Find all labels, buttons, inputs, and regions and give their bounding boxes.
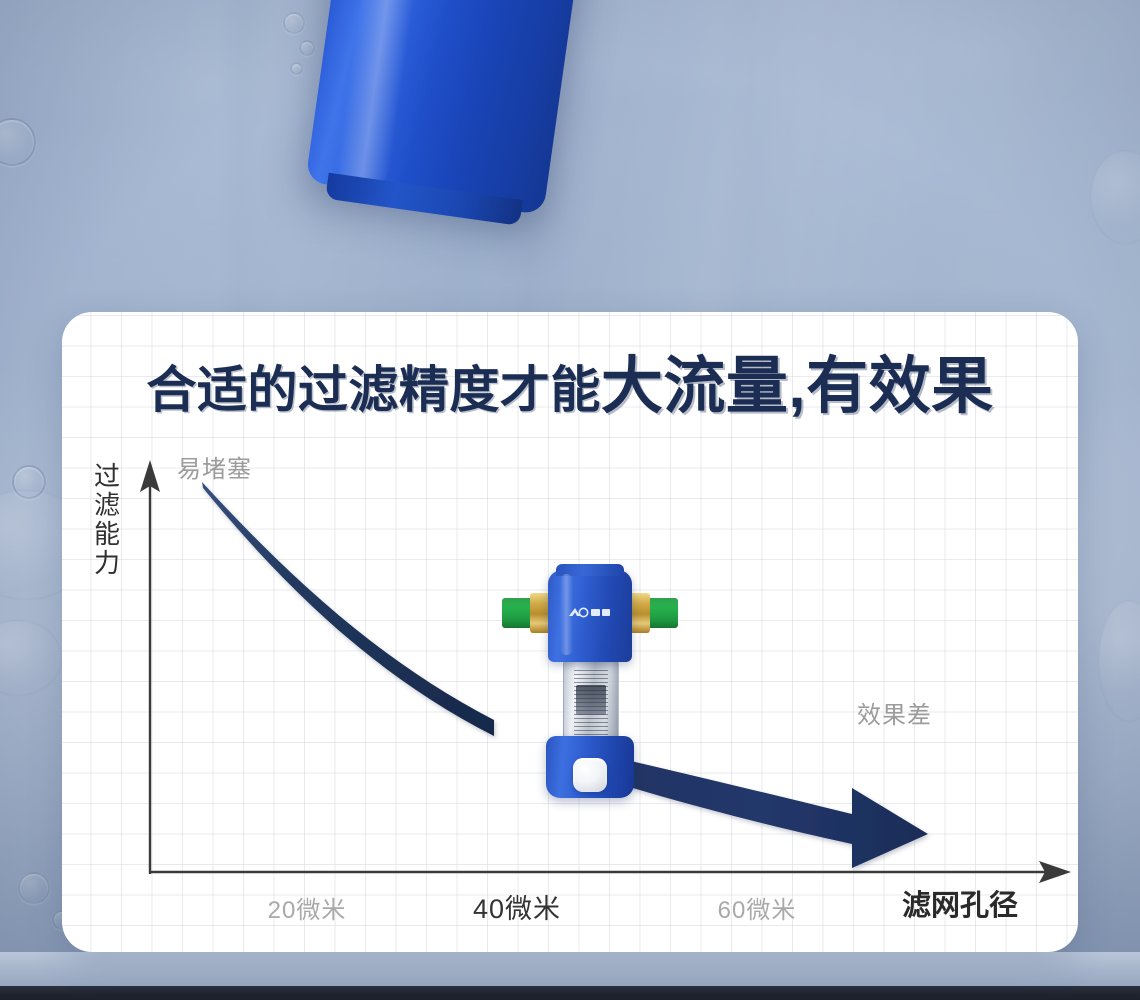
product-outlet-port <box>646 598 678 628</box>
product-prefilter-image: pre-filter-water-purifier <box>502 560 678 800</box>
annotation-easy-clog: 易堵塞 <box>177 449 252 484</box>
product-filter-bowl <box>563 660 619 748</box>
x-tick-20um: 20微米 <box>232 890 382 925</box>
x-tick-40um: 40微米 <box>422 887 612 926</box>
x-axis-label: 滤网孔径 <box>902 882 1018 924</box>
filtration-chart: 过滤能力 滤网孔径 易堵塞 效果差 20微米 40微米 60微米 <box>62 312 1078 952</box>
x-axis <box>150 861 1071 883</box>
bottom-dark-strip <box>0 986 1140 1000</box>
page-root: blue-prefilter-body-photo 合适的过滤精度才能大流量,有… <box>0 0 1140 1000</box>
filtration-decline-curve <box>202 482 494 736</box>
bottom-gray-band <box>0 952 1140 986</box>
product-flush-knob-icon <box>573 758 607 792</box>
content-card: 合适的过滤精度才能大流量,有效果 <box>62 312 1078 952</box>
product-base-housing <box>546 736 634 798</box>
product-brand-logo-icon <box>567 606 613 619</box>
x-tick-60um: 60微米 <box>682 890 832 925</box>
y-axis-label: 过滤能力 <box>90 462 124 578</box>
product-filter-mesh <box>574 669 608 739</box>
product-name-label: pre-filter-water-purifier <box>502 560 503 561</box>
annotation-poor-effect: 效果差 <box>857 695 932 730</box>
y-axis <box>140 460 160 874</box>
